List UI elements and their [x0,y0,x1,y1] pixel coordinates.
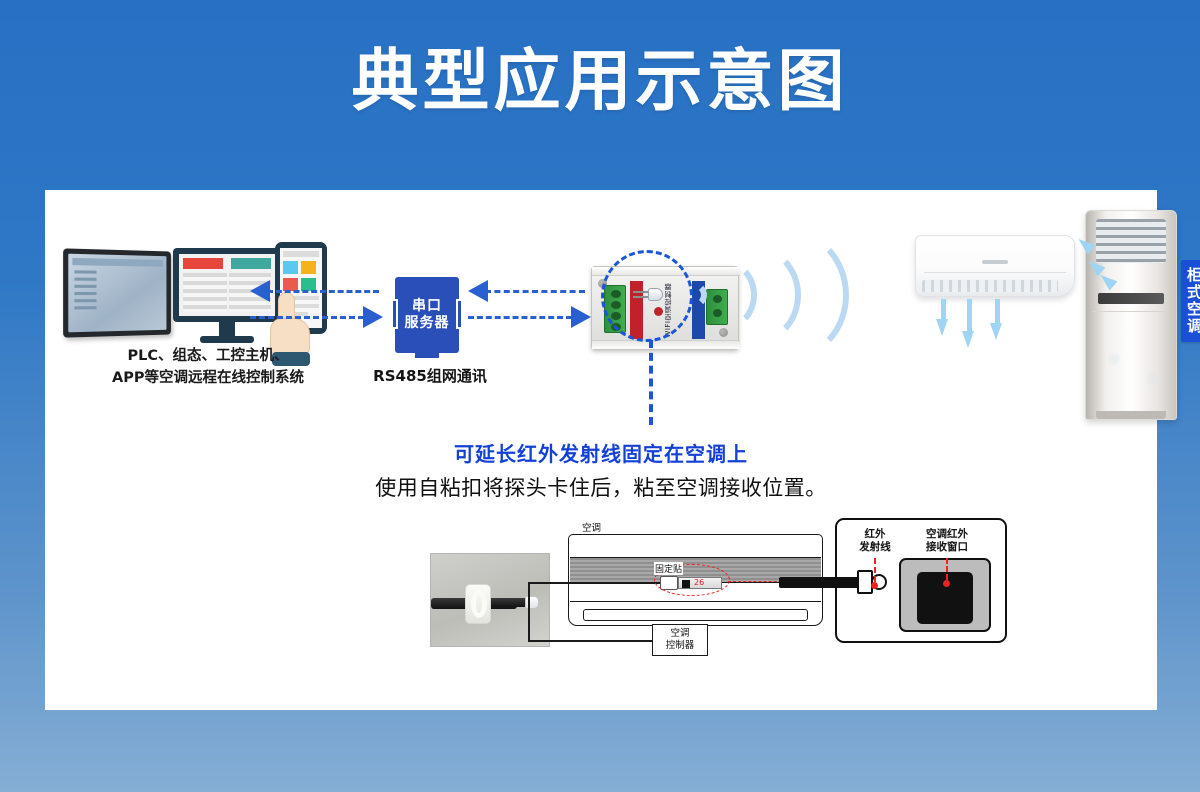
ir-led-icon [633,288,663,301]
ir-cable-label-line1: 红外 [865,528,886,540]
control-systems-group: PLC、组态、工控主机、 APP等空调远程在线控制系统 [63,240,333,420]
serial-port-server[interactable]: 串口 服务器 [395,277,459,353]
rs485-arrow-left [468,280,488,302]
serial-server-label-line1: 串口 [412,298,442,316]
industrial-panel-pc-icon [63,248,171,337]
control-systems-caption-line1: PLC、组态、工控主机、 [63,346,353,368]
ir-cable-pointer [874,558,876,582]
schema-sticker-label: 固定贴 [654,562,683,575]
cabinet-ac-label: 柜式空调 [1181,260,1200,342]
ir-cable-label-line2: 发射线 [859,541,891,553]
description-caption: 使用自粘扣将探头卡住后，粘至空调接收位置。 [45,472,1157,502]
schema-ac-label: 空调 [582,520,601,534]
schema-controller-label-line2: 控制器 [666,640,695,651]
ir-callout-connector [649,340,653,425]
serial-server-port-left [391,299,398,329]
serial-server-port-right [456,299,463,329]
ir-window-pointer [946,558,948,580]
ir-window-pointer-dot [943,580,950,587]
signal-wave-icon [733,230,849,360]
ac-panel-shape [899,558,991,632]
uplink-arrow-left [250,280,270,302]
ir-cable-label: 红外 发射线 [847,528,903,554]
schema-controller-label-line1: 空调 [670,628,689,639]
downlink-dashed-line [250,316,364,319]
ir-cable-shape [779,577,859,588]
rs485-dashed-line-out [468,316,572,319]
page-title: 典型应用示意图 [0,44,1200,119]
schema-controller-box: 空调 控制器 [652,624,708,656]
highlight-caption: 可延长红外发射线固定在空调上 [45,438,1157,467]
serial-server-caption: RS485组网通讯 [355,365,505,386]
ir-receiver-window-panel: 红外 发射线 空调红外 接收窗口 [835,518,1007,643]
cabinet-ac-unit: 柜式空调 [1085,210,1177,420]
control-systems-caption: PLC、组态、工控主机、 APP等空调远程在线控制系统 [63,346,353,390]
adhesive-clip-photo [430,553,550,647]
ac-mounting-schema: 空调 26 固定贴 空调 控制器 [568,520,823,660]
ir-window-label-line2: 接收窗口 [926,541,968,553]
serial-server-label-line2: 服务器 [405,315,450,333]
serial-server-base [415,353,439,358]
diagram-card: PLC、组态、工控主机、 APP等空调远程在线控制系统 串口 服务器 RS485… [45,190,1157,710]
rs485-dashed-line-in [485,290,585,293]
wall-mounted-ac-unit: 壁挂式空调 [915,235,1075,345]
control-systems-caption-line2: APP等空调远程在线控制系统 [63,368,353,390]
downlink-arrow-right [363,306,383,328]
ir-window-label-line1: 空调红外 [926,528,968,540]
uplink-dashed-line [267,290,379,293]
ir-window-label: 空调红外 接收窗口 [911,528,983,554]
ir-cable-pointer-dot [871,582,878,589]
